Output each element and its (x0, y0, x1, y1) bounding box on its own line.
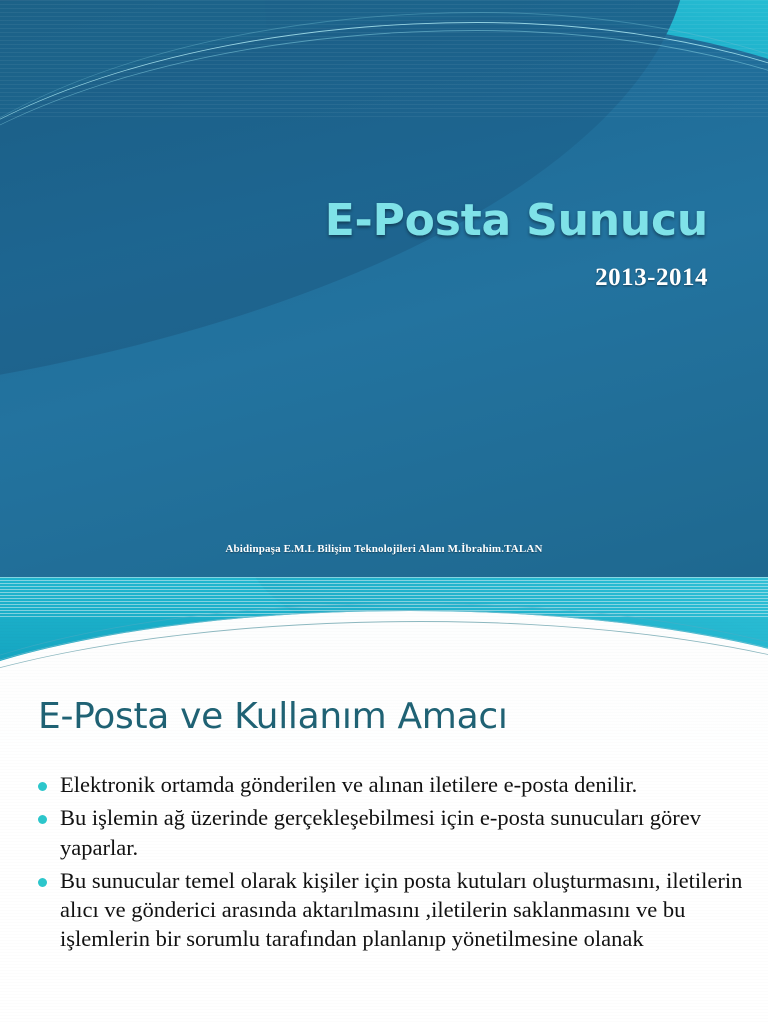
bullet-item: Bu sunucular temel olarak kişiler için p… (26, 866, 748, 954)
slide-title-page: E-Posta Sunucu 2013-2014 Abidinpaşa E.M.… (0, 0, 768, 577)
presentation-credit: Abidinpaşa E.M.L Bilişim Teknolojileri A… (0, 543, 768, 555)
presentation-title: E-Posta Sunucu (325, 198, 708, 244)
presentation-document: E-Posta Sunucu 2013-2014 Abidinpaşa E.M.… (0, 0, 768, 1024)
slide2-bullet-list: Elektronik ortamda gönderilen ve alınan … (26, 770, 748, 958)
bullet-item: Bu işlemin ağ üzerinde gerçekleşebilmesi… (26, 803, 748, 862)
bullet-item: Elektronik ortamda gönderilen ve alınan … (26, 770, 748, 799)
presentation-year: 2013-2014 (325, 264, 708, 292)
slide1-title-block: E-Posta Sunucu 2013-2014 (325, 198, 708, 292)
slide2-heading: E-Posta ve Kullanım Amacı (38, 696, 508, 737)
slide1-wave-hairline-3 (0, 12, 768, 577)
